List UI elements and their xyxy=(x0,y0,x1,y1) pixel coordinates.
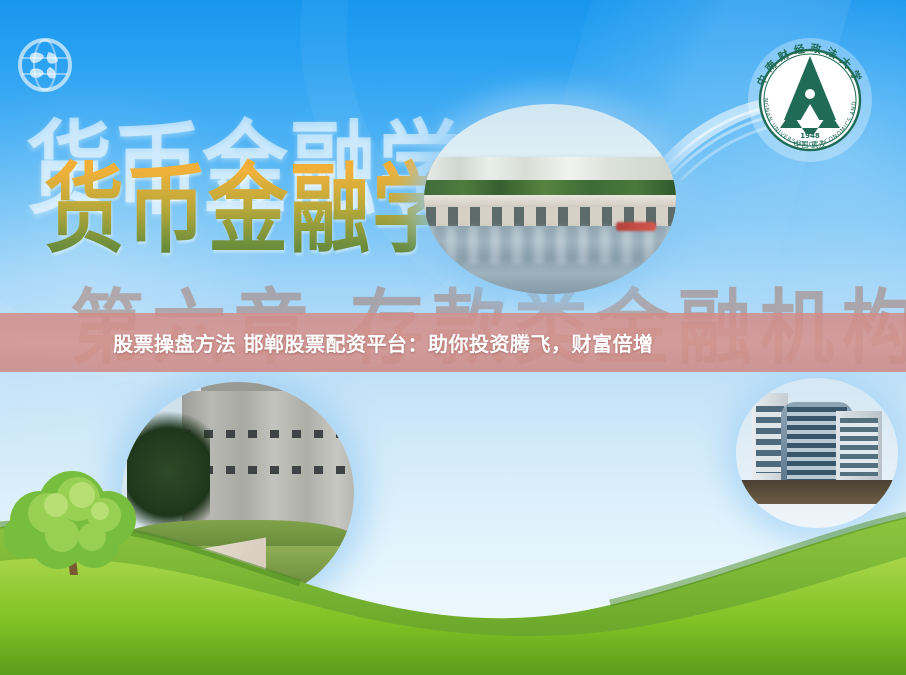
course-title-group: 货币金融学 货币金融学 xyxy=(0,96,420,276)
tree-graphic xyxy=(4,457,154,597)
university-seal: 1948 中国 武汉 中南财经政法大学 ZHONGNAN UNIVERSITY … xyxy=(744,34,876,166)
headline-banner: 股票操盘方法 邯郸股票配资平台：助你投资腾飞，财富倍增 xyxy=(0,313,906,372)
globe-icon xyxy=(16,36,74,94)
headline-text: 股票操盘方法 邯郸股票配资平台：助你投资腾飞，财富倍增 xyxy=(113,328,653,357)
course-title: 货币金融学 xyxy=(44,131,454,273)
seal-year: 1948 xyxy=(800,132,820,140)
slide-canvas: 1948 中国 武汉 中南财经政法大学 ZHONGNAN UNIVERSITY … xyxy=(0,0,906,675)
bridge-photo xyxy=(424,104,676,294)
